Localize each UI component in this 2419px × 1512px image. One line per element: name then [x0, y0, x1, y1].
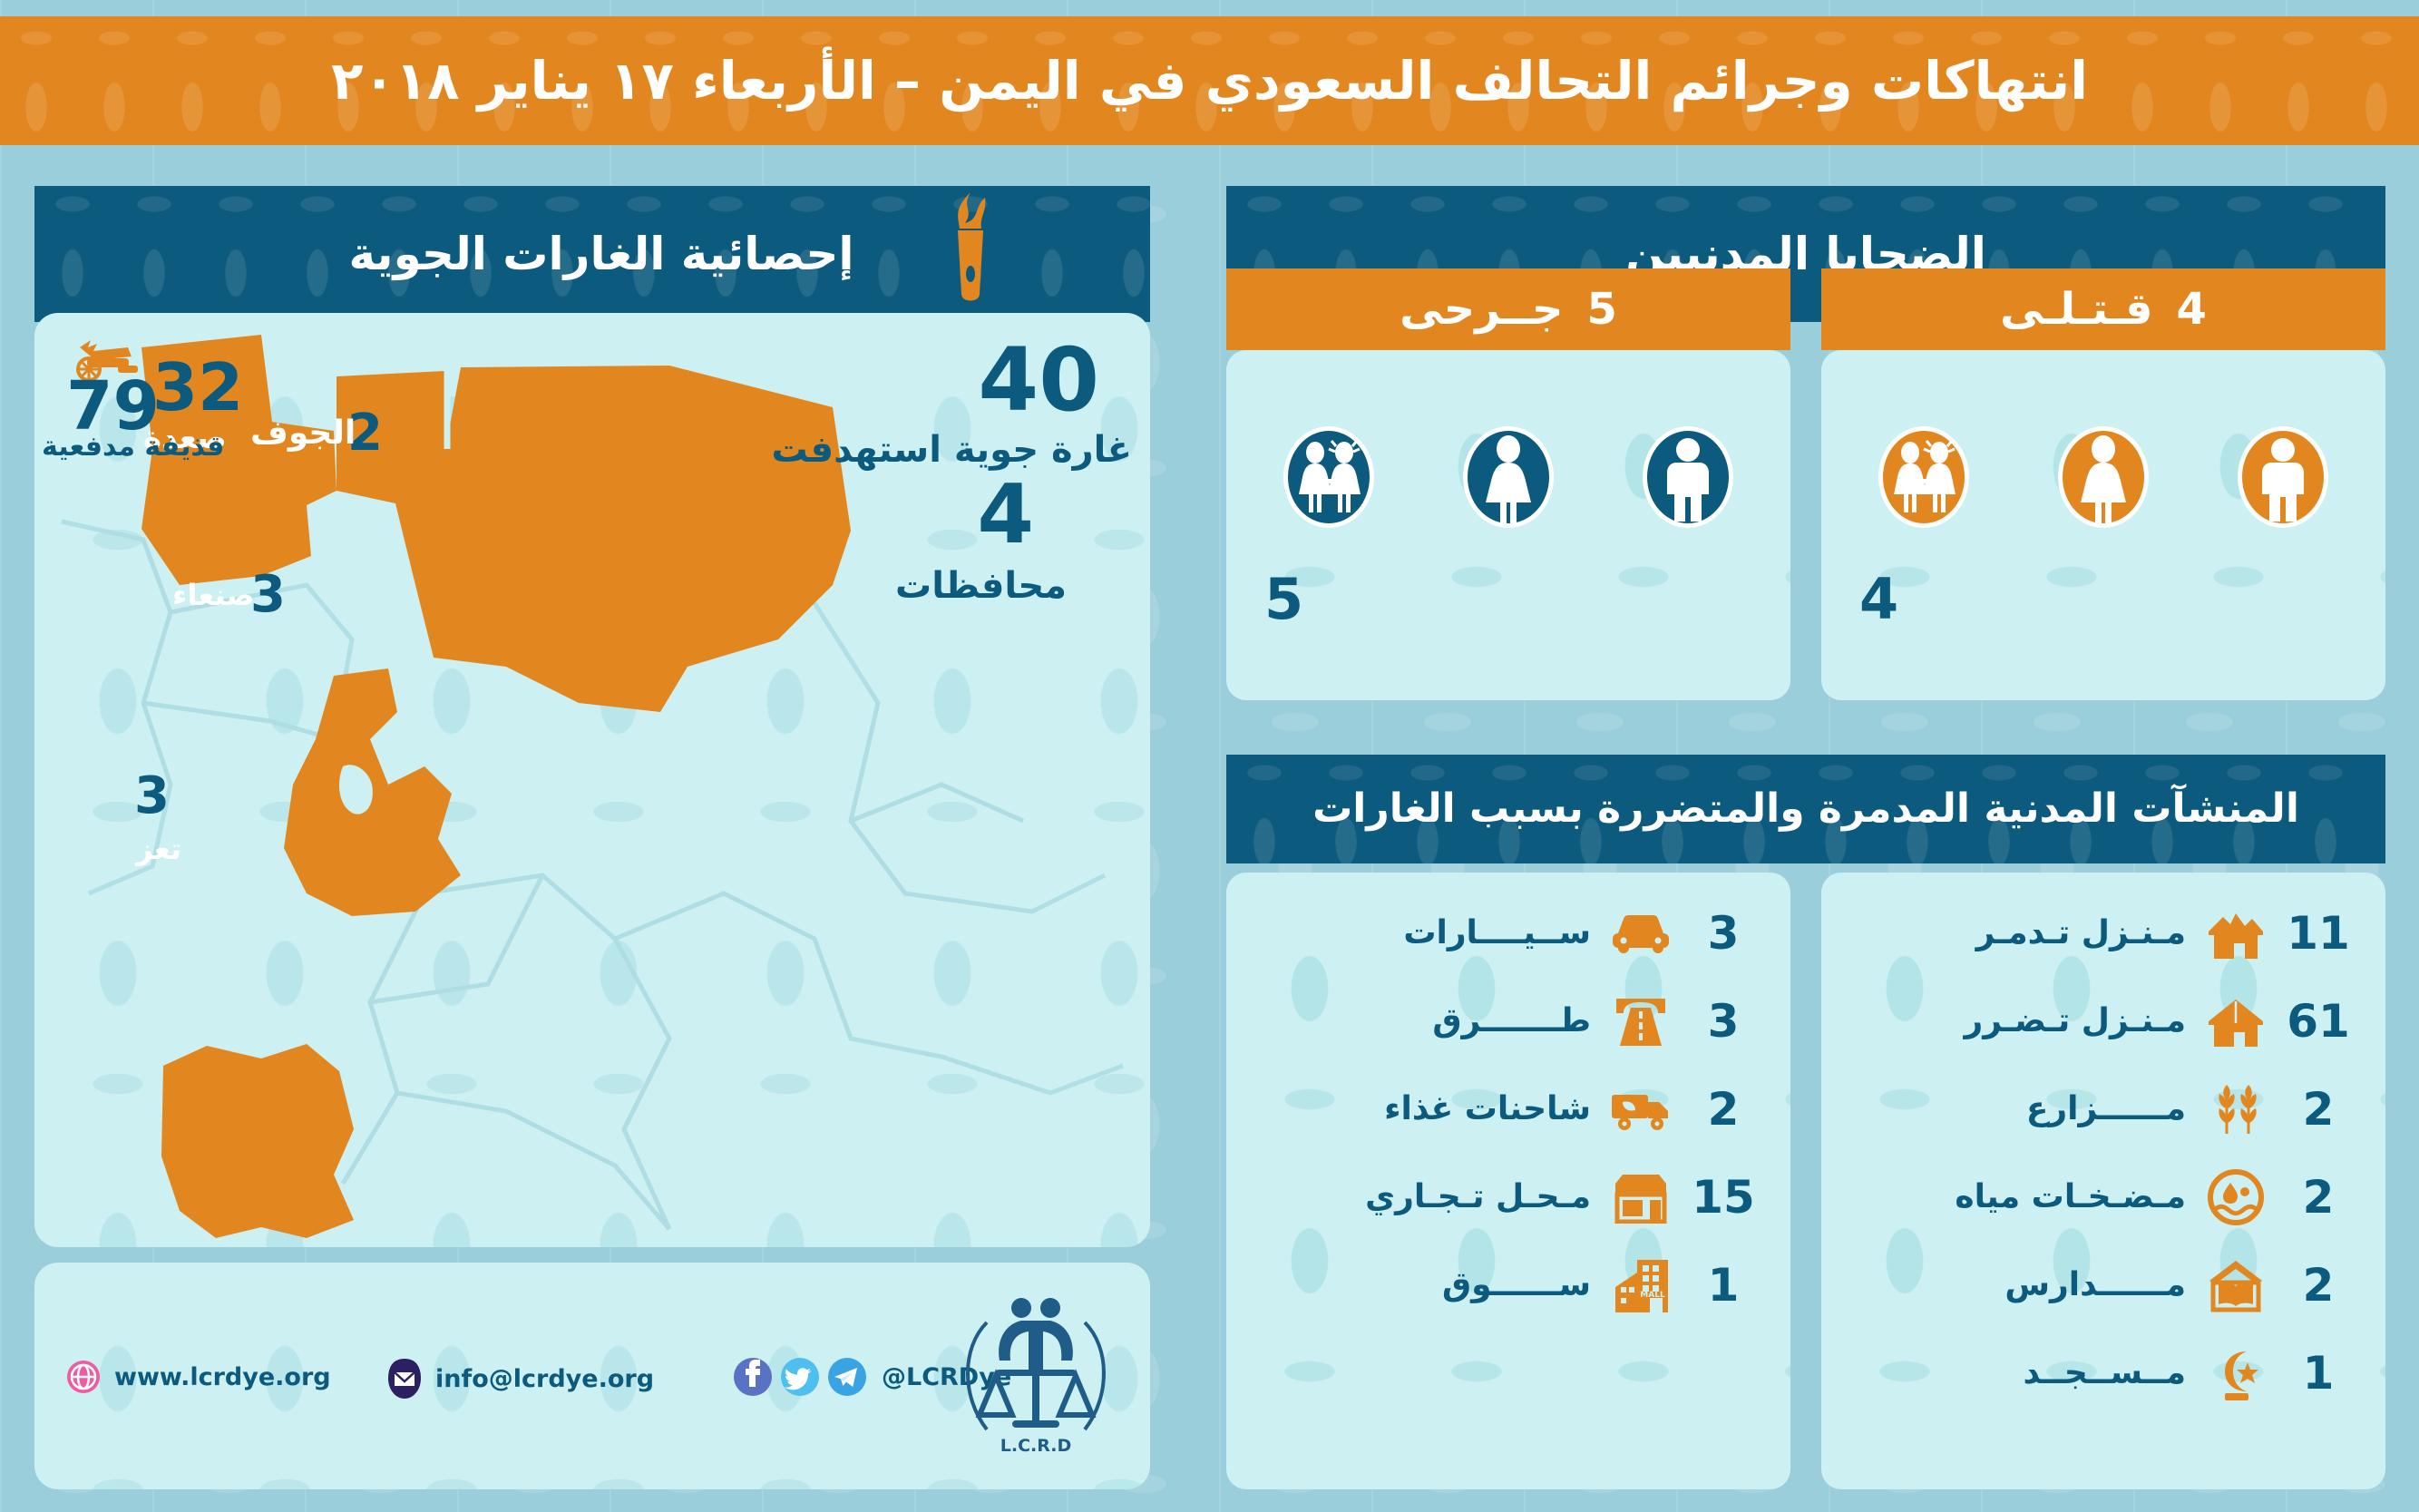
woman-icon [1458, 423, 1558, 532]
injured-icons [1239, 423, 1778, 532]
facility-row: 3 طـــــــرق [1226, 977, 1790, 1065]
car-icon [1602, 910, 1680, 957]
facility-label: ســيــــارات [1250, 914, 1602, 951]
killed-value: 4 [2177, 284, 2207, 335]
children-icon [1279, 423, 1379, 532]
twitter-icon[interactable] [780, 1357, 820, 1397]
facility-value: 2 [2275, 1259, 2362, 1312]
map-label-taiz: تعز [136, 832, 181, 866]
facility-label: ســــــوق [1250, 1266, 1602, 1303]
mail-icon [386, 1359, 423, 1399]
governorates-label: محافظات [895, 565, 1067, 607]
facility-label: مــســجــد [1845, 1354, 2197, 1391]
website-text: www.lcrdye.org [114, 1363, 331, 1391]
facility-row: 3 ســيــــارات [1226, 889, 1790, 977]
food-truck-icon [1602, 1086, 1680, 1133]
facility-row: 2 شاحنات غذاء [1226, 1065, 1790, 1153]
killed-label: قـتـلـى [2000, 284, 2152, 335]
facility-row: 2 [1821, 1065, 2385, 1153]
facility-row: 11 مـنـزل تـدمـر [1821, 889, 2385, 977]
facility-value: 2 [2275, 1171, 2362, 1224]
man-icon [1638, 423, 1738, 532]
injured-bar: 5 جــرحى [1226, 268, 1790, 350]
facilities-panel-header: المنشآت المدنية المدمرة والمتضررة بسبب ا… [1226, 755, 2385, 863]
facility-value: 15 [1680, 1171, 1767, 1224]
facility-row: 1 مــســجــد [1821, 1329, 2385, 1417]
road-icon [1602, 995, 1680, 1048]
facilities-left-column: 3 ســيــــارات 3 [1226, 873, 1790, 1489]
facility-label: مــــــدارس [1845, 1266, 2197, 1303]
facility-row: 15 مـحـل تـجـاري [1226, 1153, 1790, 1241]
telegram-icon[interactable] [827, 1357, 867, 1397]
facility-row: 61 مـنـزل تـضـرر [1821, 977, 2385, 1065]
water-pump-icon [2197, 1168, 2275, 1226]
bomb-torch-icon [934, 192, 1007, 310]
mall-icon: MALL [1602, 1256, 1680, 1314]
facility-value: 11 [2275, 907, 2362, 960]
map-value-saada: 32 [152, 349, 243, 425]
facility-value: 2 [2275, 1083, 2362, 1136]
injured-card: 5 [1226, 350, 1790, 700]
injured-label: جــرحى [1400, 284, 1563, 335]
raids-label: غارة جوية استهدفت [772, 429, 1132, 471]
injured-value: 5 [1587, 284, 1617, 335]
map-value-sanaa: 3 [250, 565, 286, 624]
email-text: info@lcrdye.org [435, 1365, 654, 1393]
facilities-right-column: 11 مـنـزل تـدمـر 61 مـنـزل تـضـرر 2 [1821, 873, 2385, 1489]
facility-row: 2 مــــــدارس [1821, 1241, 2385, 1329]
facility-row: 1 MALL ســــــوق [1226, 1241, 1790, 1329]
facility-label: مـضـخـات مياه [1845, 1178, 2197, 1215]
house-destroyed-icon [2197, 906, 2275, 961]
facility-label: شاحنات غذاء [1250, 1090, 1602, 1127]
school-icon [2197, 1257, 2275, 1313]
facility-value: 1 [1680, 1259, 1767, 1312]
facility-label: مـنـزل تـدمـر [1845, 914, 2197, 951]
mosque-icon [2197, 1344, 2275, 1402]
footer-card: www.lcrdye.org info@lcrdye.org @LCRDye [34, 1263, 1150, 1489]
website-link[interactable]: www.lcrdye.org [65, 1359, 331, 1395]
children-icon [1874, 423, 1974, 532]
facility-value: 1 [2275, 1347, 2362, 1400]
globe-icon [65, 1359, 102, 1395]
raids-value: 40 [978, 329, 1099, 431]
artillery-label: قذيفة مدفعية [42, 431, 224, 463]
map-value-taiz: 3 [134, 766, 170, 825]
killed-card: 4 [1821, 350, 2385, 700]
shop-icon [1602, 1171, 1680, 1224]
killed-icons [1834, 423, 2373, 532]
facility-label: مـنـزل تـضـرر [1845, 1002, 2197, 1039]
facebook-icon[interactable] [733, 1357, 773, 1397]
page-title: انتهاكات وجرائم التحالف السعودي في اليمن… [0, 16, 2419, 145]
facility-value: 61 [2275, 995, 2362, 1048]
man-icon [2233, 423, 2333, 532]
facility-value: 2 [1680, 1083, 1767, 1136]
facilities-header-title: المنشآت المدنية المدمرة والمتضررة بسبب ا… [1226, 755, 2385, 863]
lcrd-logo: L.C.R.D [945, 1283, 1127, 1464]
facility-value: 3 [1680, 907, 1767, 960]
svg-text:MALL: MALL [1640, 1291, 1665, 1300]
map-label-jawf: الجوف [250, 415, 356, 452]
house-damaged-icon [2197, 994, 2275, 1049]
facility-label: مــــــزارع [1845, 1090, 2197, 1127]
woman-icon [2053, 423, 2153, 532]
injured-count: 5 [1264, 566, 1303, 632]
facility-label: طـــــــرق [1250, 1002, 1602, 1039]
title-banner: انتهاكات وجرائم التحالف السعودي في اليمن… [0, 16, 2419, 145]
governorates-value: 4 [977, 467, 1034, 562]
map-label-sanaa: صنعاء [172, 578, 254, 612]
facility-value: 3 [1680, 995, 1767, 1048]
email-link[interactable]: info@lcrdye.org [386, 1359, 654, 1399]
map-card: 79 قذيفة مدفعية 32 صعدة 2 الجوف 3 صنعاء … [34, 313, 1150, 1247]
facility-row: 2 مـضـخـات مياه [1821, 1153, 2385, 1241]
lcrd-logo-text: L.C.R.D [1000, 1436, 1071, 1456]
wheat-icon [2197, 1081, 2275, 1137]
killed-bar: 4 قـتـلـى [1821, 268, 2385, 350]
facility-label: مـحـل تـجـاري [1250, 1178, 1602, 1215]
killed-count: 4 [1859, 566, 1898, 632]
